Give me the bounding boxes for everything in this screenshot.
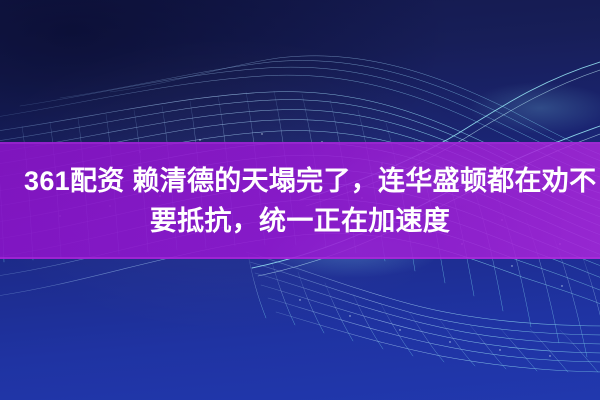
- banner-image: 361配资 赖清德的天塌完了，连华盛顿都在劝不 要抵抗，统一正在加速度: [0, 0, 600, 400]
- headline-block: 361配资 赖清德的天塌完了，连华盛顿都在劝不 要抵抗，统一正在加速度: [0, 142, 600, 259]
- headline-line-2: 要抵抗，统一正在加速度: [150, 201, 450, 241]
- headline-line-1: 361配资 赖清德的天塌完了，连华盛顿都在劝不: [24, 161, 576, 201]
